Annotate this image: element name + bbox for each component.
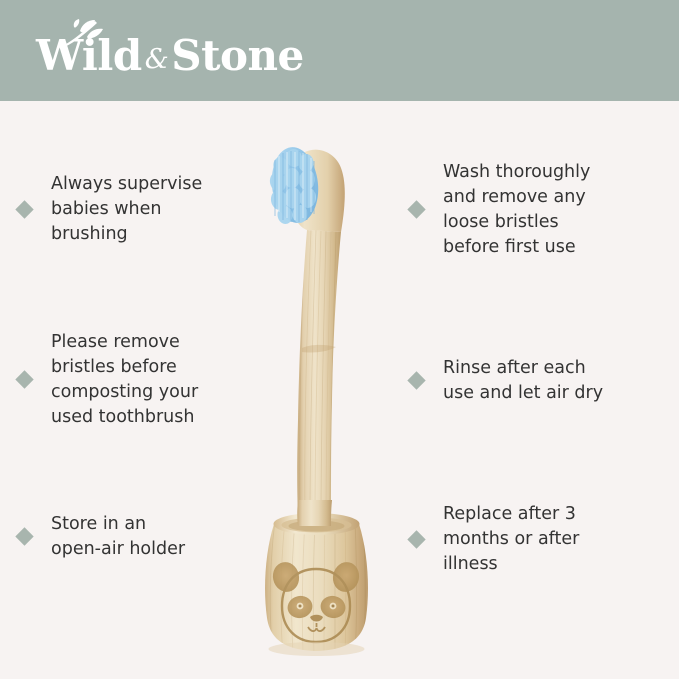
holder-base-shadow xyxy=(269,642,365,656)
diamond-bullet-icon xyxy=(15,200,33,218)
product-info-card: Wild&Stone Always supervise babies when … xyxy=(0,0,679,679)
handle-inside-holder xyxy=(297,500,332,526)
tip-open-air-holder: Store in an open-air holder xyxy=(18,512,283,562)
tip-text: Store in an open-air holder xyxy=(51,512,185,562)
diamond-bullet-icon xyxy=(15,528,33,546)
toothbrush-and-holder-illustration xyxy=(245,120,435,660)
tip-text: Always supervise babies when brushing xyxy=(51,172,202,247)
tip-remove-bristles-composting: Please remove bristles before composting… xyxy=(18,330,283,429)
tip-text: Please remove bristles before composting… xyxy=(51,330,198,429)
tip-text: Replace after 3 months or after illness xyxy=(443,502,579,577)
tip-wash-before-first-use: Wash thoroughly and remove any loose bri… xyxy=(410,160,675,259)
tip-rinse-air-dry: Rinse after each use and let air dry xyxy=(410,356,675,406)
product-photo-bamboo-toothbrush xyxy=(245,120,435,660)
tip-supervise-babies: Always supervise babies when brushing xyxy=(18,172,283,247)
tip-text: Rinse after each use and let air dry xyxy=(443,356,603,406)
tip-replace-3-months: Replace after 3 months or after illness xyxy=(410,502,675,577)
tip-text: Wash thoroughly and remove any loose bri… xyxy=(443,160,590,259)
tips-column-right: Wash thoroughly and remove any loose bri… xyxy=(410,0,679,679)
diamond-bullet-icon xyxy=(15,370,33,388)
toothbrush-handle xyxy=(297,230,341,518)
